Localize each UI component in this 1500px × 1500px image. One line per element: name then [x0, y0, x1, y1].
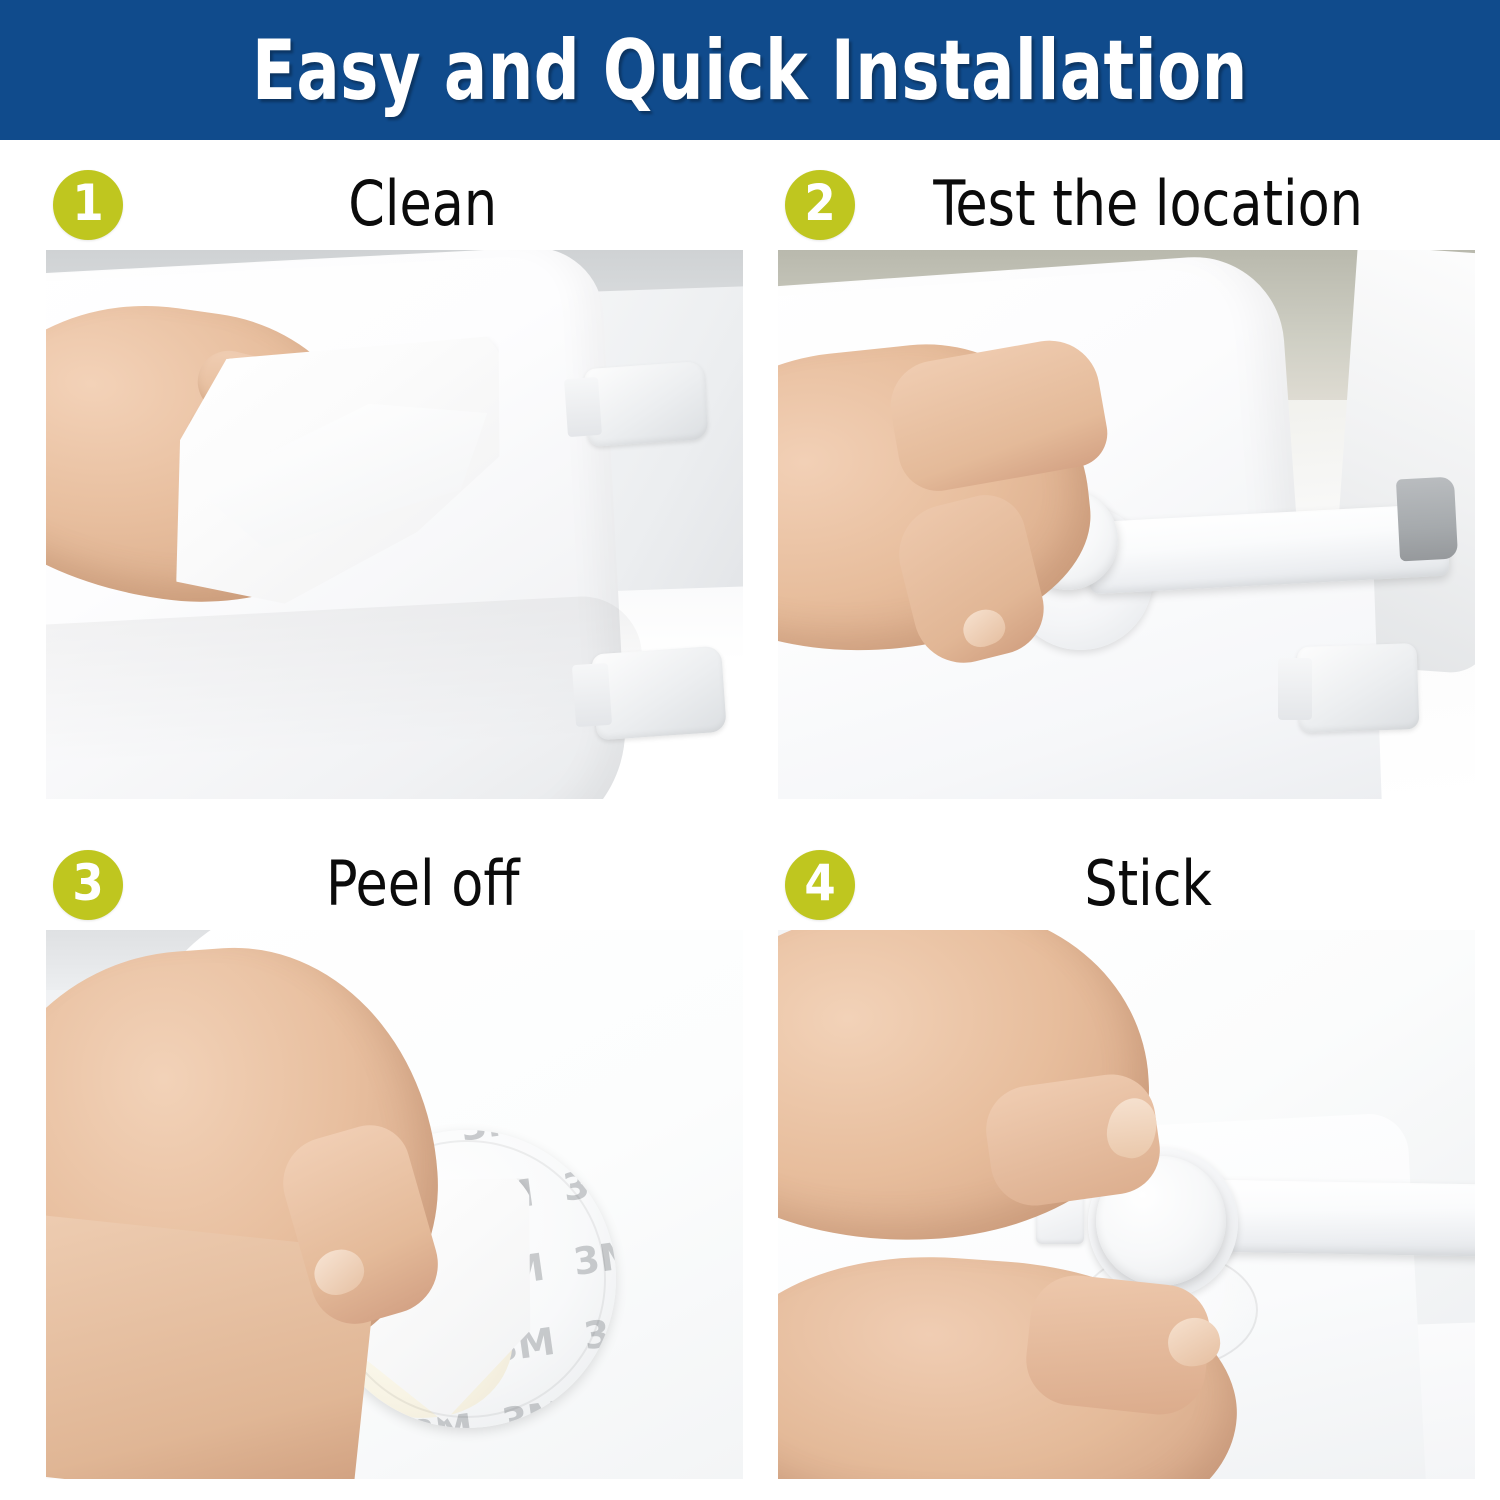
step-title-4: Stick: [799, 853, 1454, 915]
step-card-4: 4 Stick: [778, 838, 1475, 1479]
toilet-hinge-upper-stem: [564, 377, 602, 437]
toilet-hinge-upper: [583, 361, 708, 447]
step-title-2: Test the location: [799, 173, 1454, 235]
lock-strap-grey-tip: [1396, 477, 1458, 562]
toilet-hinge-lower-stem: [1278, 658, 1312, 720]
lock-strap-arm: [1197, 1179, 1475, 1256]
toilet-hinge-lower-stem: [572, 663, 612, 727]
header-banner: Easy and Quick Installation: [0, 0, 1500, 140]
step-header-2: 2 Test the location: [778, 158, 1475, 250]
step-card-1: 1 Clean: [46, 158, 743, 799]
brand-mark-3m: 3M: [592, 1384, 616, 1428]
step-card-2: 2 Test the location: [778, 158, 1475, 799]
brand-mark-3m: 3M: [551, 1130, 616, 1135]
step-photo-1: [46, 250, 743, 799]
installation-infographic: Easy and Quick Installation 1 Clean: [0, 0, 1500, 1500]
step-header-3: 3 Peel off: [46, 838, 743, 930]
lid-shadow-edge: [46, 593, 652, 799]
step-header-4: 4 Stick: [778, 838, 1475, 930]
step-title-1: Clean: [67, 173, 722, 235]
toilet-hinge-lower: [591, 646, 727, 741]
page-title: Easy and Quick Installation: [252, 22, 1248, 119]
step-card-3: 3 Peel off 3M 3M 3M 3M 3M 3M 3M 3M 3M: [46, 838, 743, 1479]
step-photo-2: [778, 250, 1475, 799]
step-title-3: Peel off: [67, 853, 722, 915]
toilet-hinge-lower: [1297, 643, 1420, 733]
step-header-1: 1 Clean: [46, 158, 743, 250]
step-photo-4: [778, 930, 1475, 1479]
step-photo-3: 3M 3M 3M 3M 3M 3M 3M 3M 3M 3M 3M 3M 3M 3…: [46, 930, 743, 1479]
